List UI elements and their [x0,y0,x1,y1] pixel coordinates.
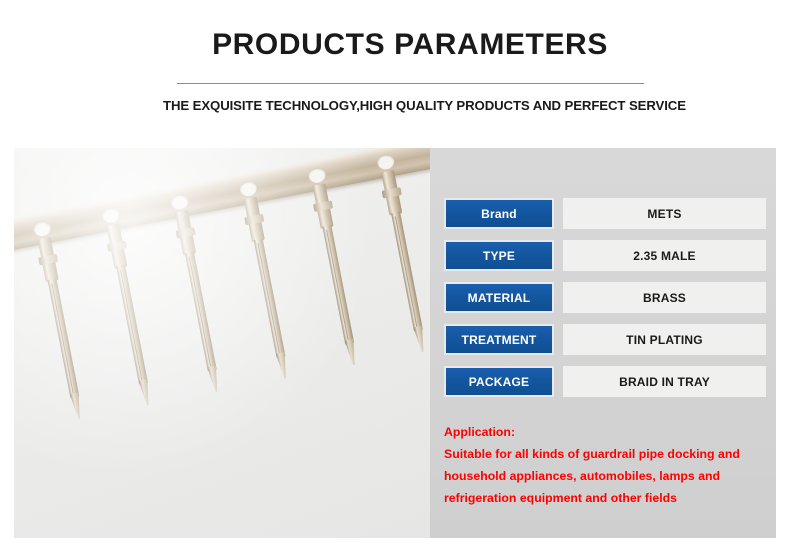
pin-seam [395,216,420,342]
pin-shaft [48,278,80,398]
application-block: Application: Suitable for all kinds of g… [444,421,766,509]
spec-label-brand: Brand [444,198,554,229]
terminal-pin [380,170,430,359]
spec-value-material: BRASS [563,282,766,313]
pin-tip [70,392,84,419]
pin-shaft [185,252,217,372]
pin-shaft [254,238,286,358]
table-row: TYPE 2.35 MALE [444,240,766,271]
terminal-pin [311,183,362,372]
pin-tip [138,379,152,406]
spec-value-type: 2.35 MALE [563,240,766,271]
specification-table: Brand METS TYPE 2.35 MALE MATERIAL BRASS… [444,198,766,408]
spec-value-package: BRAID IN TRAY [563,366,766,397]
page-subtitle: THE EXQUISITE TECHNOLOGY,HIGH QUALITY PR… [163,98,657,113]
terminal-strip-assembly [14,148,430,520]
pin-seam [120,270,145,396]
pin-shaft [391,212,423,332]
content-panel: Brand METS TYPE 2.35 MALE MATERIAL BRASS… [14,148,776,538]
terminal-pin [174,210,225,399]
specification-panel: Brand METS TYPE 2.35 MALE MATERIAL BRASS… [430,148,776,538]
spec-label-type: TYPE [444,240,554,271]
terminal-pin [243,197,294,386]
terminal-pin [37,237,88,426]
spec-label-treatment: TREATMENT [444,324,554,355]
pin-seam [51,283,76,409]
table-row: Brand METS [444,198,766,229]
spec-label-package: PACKAGE [444,366,554,397]
application-line-3: refrigeration equipment and other fields [444,487,766,509]
pin-tip [276,352,290,379]
photo-stage [14,148,430,538]
pin-tip [413,325,427,352]
pin-tip [345,339,359,366]
spec-value-treatment: TIN PLATING [563,324,766,355]
pin-shaft [322,225,354,345]
terminal-pin [105,223,156,412]
page-header: PRODUCTS PARAMETERS THE EXQUISITE TECHNO… [163,26,657,113]
title-divider [177,83,644,84]
application-line-1: Suitable for all kinds of guardrail pipe… [444,443,766,465]
application-line-2: household appliances, automobiles, lamps… [444,465,766,487]
pin-shaft [116,265,148,385]
carrier-strip [14,148,430,255]
pin-seam [326,230,351,356]
spec-value-brand: METS [563,198,766,229]
spec-label-material: MATERIAL [444,282,554,313]
pin-seam [189,257,214,383]
table-row: TREATMENT TIN PLATING [444,324,766,355]
page-title: PRODUCTS PARAMETERS [163,26,657,64]
product-photo [14,148,430,538]
pin-seam [257,243,282,369]
table-row: PACKAGE BRAID IN TRAY [444,366,766,397]
table-row: MATERIAL BRASS [444,282,766,313]
application-heading: Application: [444,421,766,443]
pin-tip [207,366,221,393]
